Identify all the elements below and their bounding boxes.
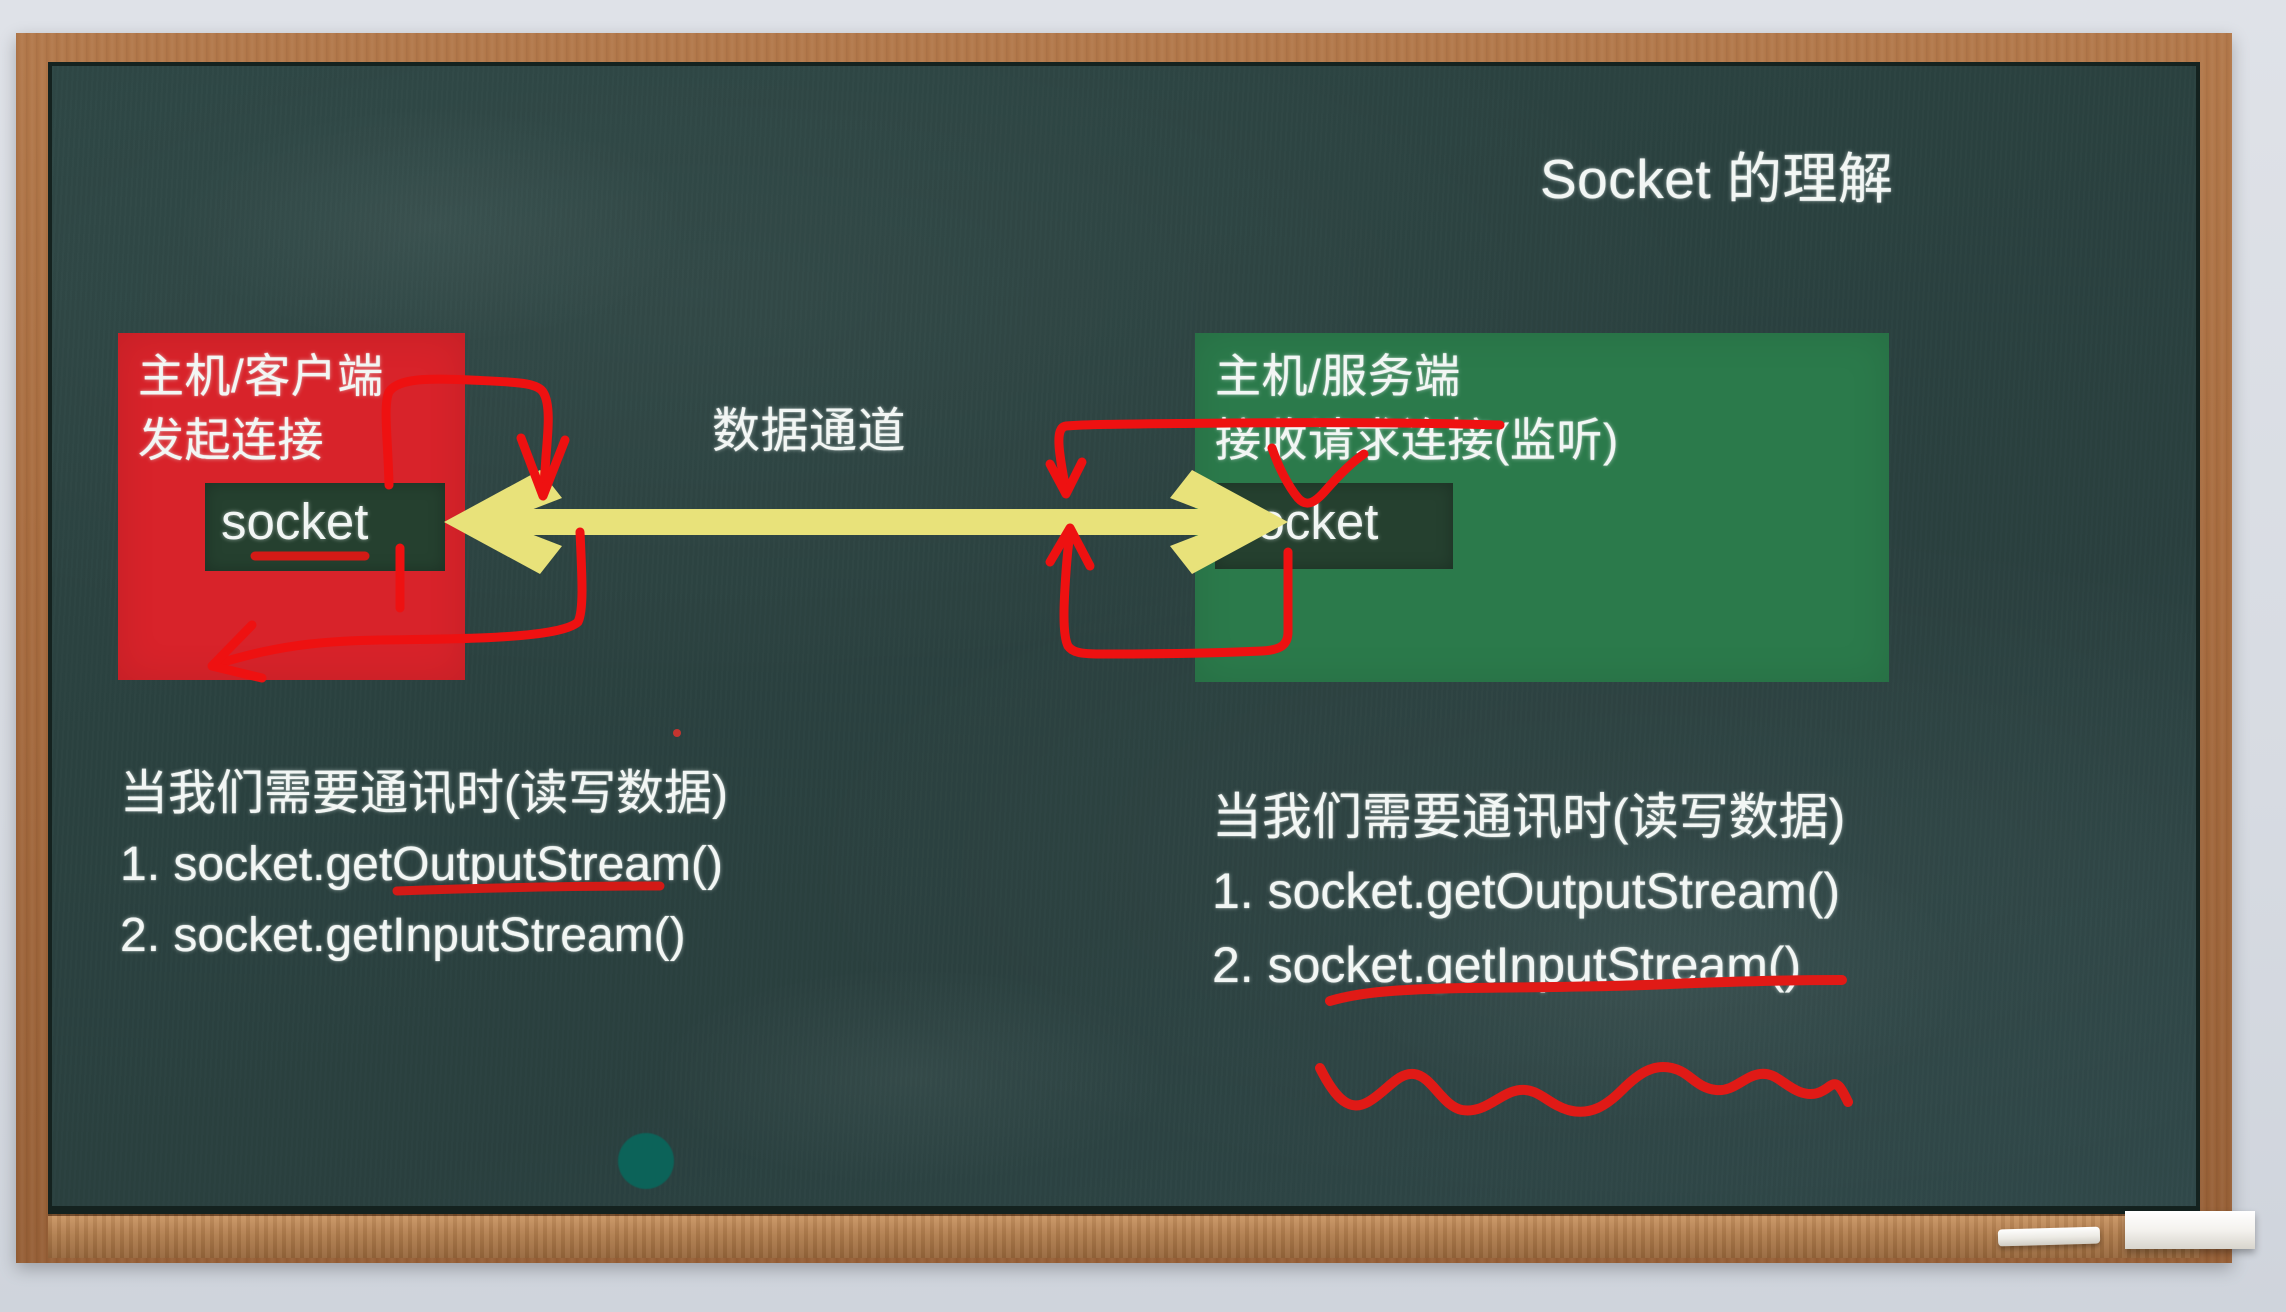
server-socket-label: socket [1231, 492, 1378, 551]
data-channel-label: 数据通道 [712, 391, 906, 461]
chalk-smudge [652, 966, 1172, 1186]
server-notes-block: 当我们需要通讯时(读写数据) 1. socket.getOutputStream… [1212, 780, 1845, 1002]
client-notes-block: 当我们需要通讯时(读写数据) 1. socket.getOutputStream… [120, 758, 728, 971]
page-title: Socket 的理解 [1540, 134, 1893, 214]
server-notes-heading: 当我们需要通讯时(读写数据) [1212, 780, 1845, 854]
chalk-tray [48, 1214, 2200, 1258]
red-dot-mark [673, 729, 681, 737]
chalk-stick-icon[interactable] [1998, 1227, 2100, 1247]
client-host-title: 主机/客户端 [138, 340, 384, 406]
client-host-action: 发起连接 [138, 404, 324, 470]
server-notes-item-1: 1. socket.getOutputStream() [1212, 854, 1845, 928]
teal-dot-mark [618, 1133, 674, 1189]
server-notes-item-2: 2. socket.getInputStream() [1212, 928, 1845, 1002]
client-notes-heading: 当我们需要通讯时(读写数据) [120, 758, 728, 829]
board-eraser-icon[interactable] [2125, 1211, 2255, 1249]
server-host-title: 主机/服务端 [1215, 340, 1461, 406]
client-notes-item-1: 1. socket.getOutputStream() [120, 829, 728, 900]
client-notes-item-2: 2. socket.getInputStream() [120, 900, 728, 971]
chalkboard-scene: Socket 的理解 主机/客户端 发起连接 主机/服务端 接收请求连接(监听)… [0, 0, 2286, 1312]
chalk-smudge [172, 106, 692, 346]
server-host-action: 接收请求连接(监听) [1215, 404, 1619, 470]
client-socket-label: socket [221, 492, 368, 551]
